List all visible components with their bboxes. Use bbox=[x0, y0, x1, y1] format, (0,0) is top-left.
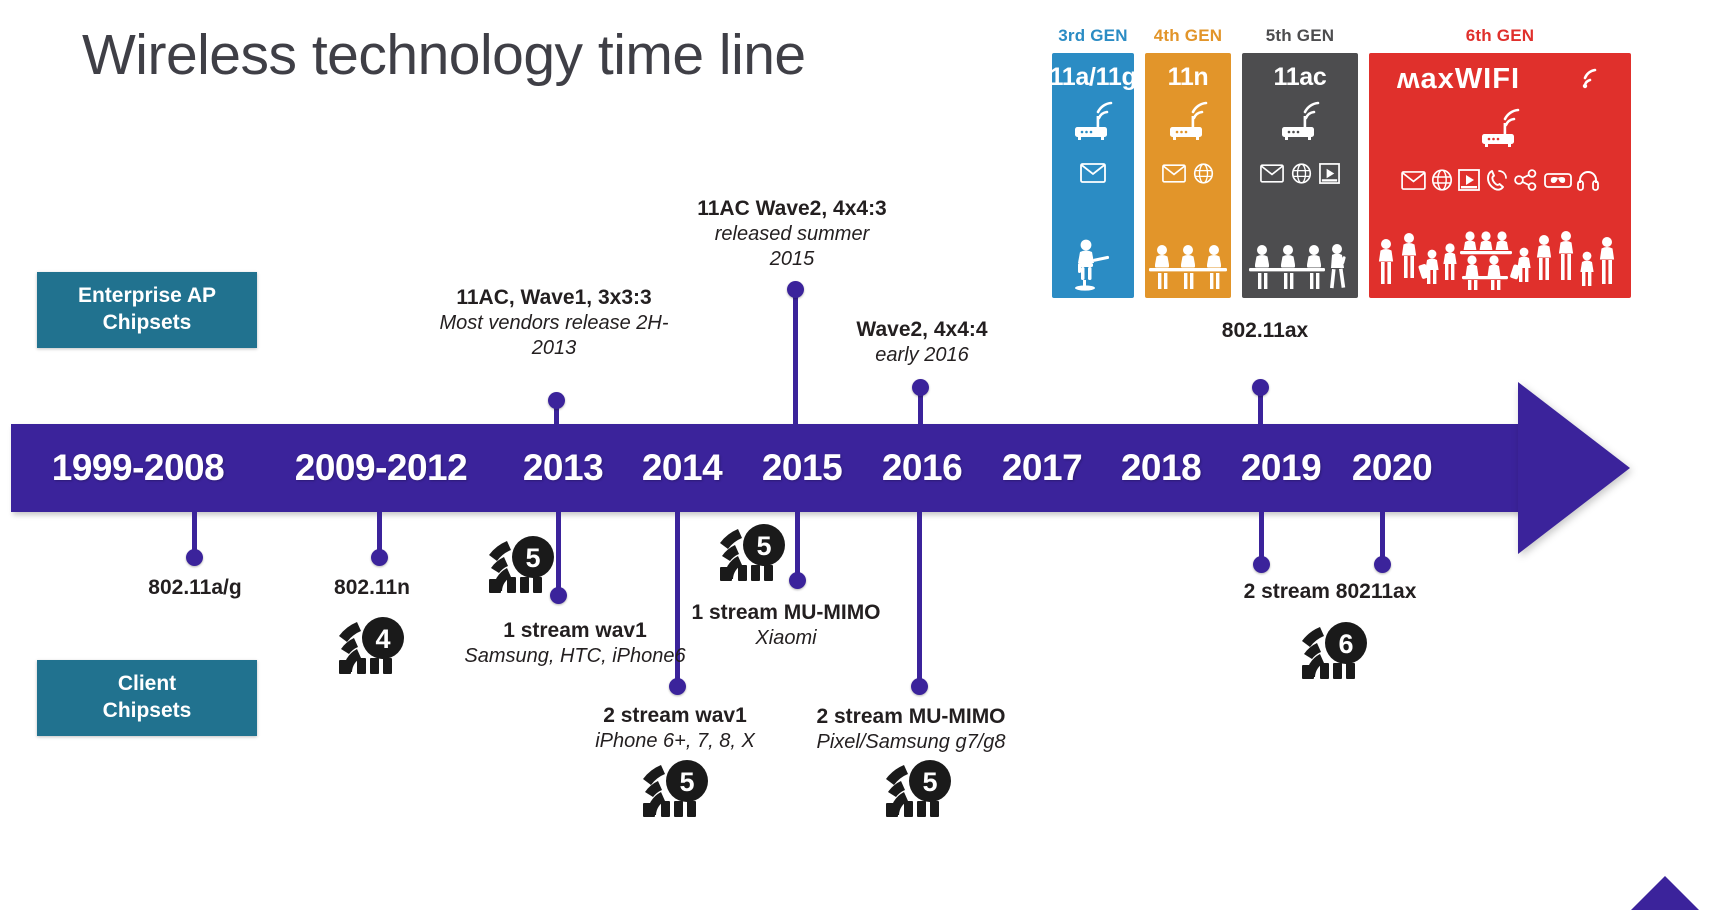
router-icon bbox=[1275, 100, 1325, 149]
wifi-generation-badge-5: 5 bbox=[487, 535, 557, 602]
pin-below-wifi6-badge bbox=[1374, 509, 1391, 573]
gen-body-3rd: 11a/11g bbox=[1052, 53, 1134, 298]
annotation-title: 11AC Wave2, 4x4:3 bbox=[672, 196, 912, 222]
gen-service-icons-6th bbox=[1401, 168, 1599, 197]
vr-icon bbox=[1544, 171, 1572, 195]
svg-text:5: 5 bbox=[922, 767, 937, 797]
wifi-generation-badge-4: 4 bbox=[337, 616, 407, 683]
gen-standard-6th: ʍaxWIFI bbox=[1397, 63, 1603, 103]
gen-panel-5th: 5th GEN 11ac bbox=[1242, 26, 1358, 298]
wifi-generation-badge-5: 5 bbox=[718, 523, 788, 590]
annotation-title: 2 stream 80211ax bbox=[1230, 579, 1430, 605]
year-label-2016: 2016 bbox=[882, 447, 962, 489]
annotation-802-11n: 802.11n bbox=[262, 575, 482, 601]
svg-text:4: 4 bbox=[375, 624, 390, 654]
mail-icon bbox=[1401, 171, 1426, 195]
gen-body-4th: 11n bbox=[1145, 53, 1231, 298]
globe-icon bbox=[1193, 163, 1214, 189]
pin-below-2-stream-mu-mimo bbox=[911, 509, 928, 695]
annotation-2-stream-wav1: 2 stream wav1 iPhone 6+, 7, 8, X bbox=[563, 703, 787, 754]
svg-text:5: 5 bbox=[679, 767, 694, 797]
year-label-2013: 2013 bbox=[523, 447, 603, 489]
mail-icon bbox=[1260, 164, 1284, 188]
pin-below-1-stream-mu-mimo bbox=[789, 509, 806, 589]
timeline-year-labels: 1999-2008 2009-2012 2013 2014 2015 2016 … bbox=[11, 424, 1541, 512]
year-label-2009-2012: 2009-2012 bbox=[295, 447, 467, 489]
year-label-2018: 2018 bbox=[1121, 447, 1201, 489]
year-label-2014: 2014 bbox=[642, 447, 722, 489]
gen-standard-4th: 11n bbox=[1168, 63, 1209, 92]
video-icon bbox=[1458, 169, 1480, 196]
legend-client-line1: Client bbox=[103, 671, 192, 698]
annotation-subtitle: Most vendors release 2H- 2013 bbox=[430, 311, 678, 361]
corner-triangle-mark bbox=[1631, 876, 1699, 910]
gen-panel-6th: 6th GEN ʍaxWIFI bbox=[1369, 26, 1631, 298]
wifi-generation-badge-5: 5 bbox=[884, 759, 954, 826]
pin-above-2015 bbox=[787, 281, 804, 427]
pin-below-2-stream-80211ax bbox=[1253, 509, 1270, 573]
annotation-2-stream-80211ax: 2 stream 80211ax bbox=[1230, 579, 1430, 605]
headset-icon bbox=[1577, 168, 1599, 197]
year-label-2019: 2019 bbox=[1241, 447, 1321, 489]
legend-client-line2: Chipsets bbox=[103, 698, 192, 725]
gen-header-6th: 6th GEN bbox=[1466, 26, 1534, 46]
people-illustration-6th bbox=[1369, 230, 1631, 292]
annotation-title: 802.11ax bbox=[1155, 318, 1375, 344]
gen-header-4th: 4th GEN bbox=[1154, 26, 1222, 46]
pin-below-802-11n bbox=[371, 509, 388, 566]
mail-icon bbox=[1162, 164, 1186, 188]
legend-enterprise-line1: Enterprise AP bbox=[78, 283, 216, 310]
gen-panel-3rd: 3rd GEN 11a/11g bbox=[1052, 26, 1134, 298]
video-icon bbox=[1319, 163, 1340, 189]
people-illustration-3rd bbox=[1052, 236, 1134, 292]
annotation-11ac-wave1: 11AC, Wave1, 3x3:3 Most vendors release … bbox=[430, 285, 678, 361]
router-icon bbox=[1163, 100, 1213, 149]
people-illustration-5th bbox=[1242, 242, 1358, 292]
pin-above-2013 bbox=[548, 392, 565, 427]
svg-text:5: 5 bbox=[525, 543, 540, 573]
year-label-2020: 2020 bbox=[1352, 447, 1432, 489]
year-label-2015: 2015 bbox=[762, 447, 842, 489]
svg-text:ʍaxWIFI: ʍaxWIFI bbox=[1397, 63, 1520, 95]
gen-service-icons-4th bbox=[1162, 163, 1214, 189]
legend-enterprise-line2: Chipsets bbox=[78, 310, 216, 337]
annotation-2-stream-mu-mimo: 2 stream MU-MIMO Pixel/Samsung g7/g8 bbox=[803, 704, 1019, 755]
gen-service-icons-3rd bbox=[1080, 163, 1106, 188]
annotation-title: 1 stream wav1 bbox=[455, 618, 695, 644]
gen-header-5th: 5th GEN bbox=[1266, 26, 1334, 46]
svg-text:5: 5 bbox=[756, 531, 771, 561]
annotation-802-11ax: 802.11ax bbox=[1155, 318, 1375, 344]
legend-enterprise-ap-chipsets: Enterprise AP Chipsets bbox=[37, 272, 257, 348]
gen-header-3rd: 3rd GEN bbox=[1058, 26, 1127, 46]
annotation-subtitle: iPhone 6+, 7, 8, X bbox=[563, 729, 787, 754]
mail-icon bbox=[1080, 163, 1106, 188]
pin-below-802-11ag bbox=[186, 509, 203, 566]
annotation-title: 802.11n bbox=[262, 575, 482, 601]
globe-icon bbox=[1431, 169, 1453, 196]
router-icon bbox=[1475, 107, 1525, 156]
annotation-subtitle: released summer 2015 bbox=[672, 222, 912, 272]
gen-service-icons-5th bbox=[1260, 163, 1340, 189]
pin-above-2016 bbox=[912, 379, 929, 427]
slide-canvas: Wireless technology time line 3rd GEN 11… bbox=[0, 0, 1716, 911]
pin-above-2019 bbox=[1252, 379, 1269, 427]
legend-client-chipsets: Client Chipsets bbox=[37, 660, 257, 736]
svg-text:6: 6 bbox=[1338, 629, 1353, 659]
annotation-11ac-wave2-4x4-3: 11AC Wave2, 4x4:3 released summer 2015 bbox=[672, 196, 912, 272]
annotation-title: 1 stream MU-MIMO bbox=[678, 600, 894, 626]
annotation-1-stream-wav1: 1 stream wav1 Samsung, HTC, iPhone6 bbox=[455, 618, 695, 669]
annotation-wave2-4x4-4: Wave2, 4x4:4 early 2016 bbox=[812, 317, 1032, 368]
people-illustration-4th bbox=[1145, 242, 1231, 292]
annotation-subtitle: Xiaomi bbox=[678, 626, 894, 651]
annotation-title: 2 stream wav1 bbox=[563, 703, 787, 729]
gen-standard-3rd: 11a/11g bbox=[1052, 63, 1134, 92]
annotation-title: Wave2, 4x4:4 bbox=[812, 317, 1032, 343]
wifi-generation-panels: 3rd GEN 11a/11g bbox=[1052, 26, 1631, 306]
annotation-subtitle: early 2016 bbox=[812, 343, 1032, 368]
page-title: Wireless technology time line bbox=[82, 22, 806, 88]
phone-icon bbox=[1485, 168, 1509, 197]
annotation-title: 2 stream MU-MIMO bbox=[803, 704, 1019, 730]
annotation-subtitle: Pixel/Samsung g7/g8 bbox=[803, 730, 1019, 755]
router-icon bbox=[1068, 100, 1118, 149]
annotation-1-stream-mu-mimo: 1 stream MU-MIMO Xiaomi bbox=[678, 600, 894, 651]
share-icon bbox=[1514, 169, 1539, 196]
annotation-title: 11AC, Wave1, 3x3:3 bbox=[430, 285, 678, 311]
gen-standard-5th: 11ac bbox=[1273, 63, 1326, 92]
wifi-generation-badge-5: 5 bbox=[641, 759, 711, 826]
gen-body-6th: ʍaxWIFI bbox=[1369, 53, 1631, 298]
year-label-1999-2008: 1999-2008 bbox=[52, 447, 224, 489]
year-label-2017: 2017 bbox=[1002, 447, 1082, 489]
wifi-generation-badge-6: 6 bbox=[1300, 621, 1370, 688]
gen-body-5th: 11ac bbox=[1242, 53, 1358, 298]
globe-icon bbox=[1291, 163, 1312, 189]
gen-panel-4th: 4th GEN 11n bbox=[1145, 26, 1231, 298]
annotation-subtitle: Samsung, HTC, iPhone6 bbox=[455, 644, 695, 669]
